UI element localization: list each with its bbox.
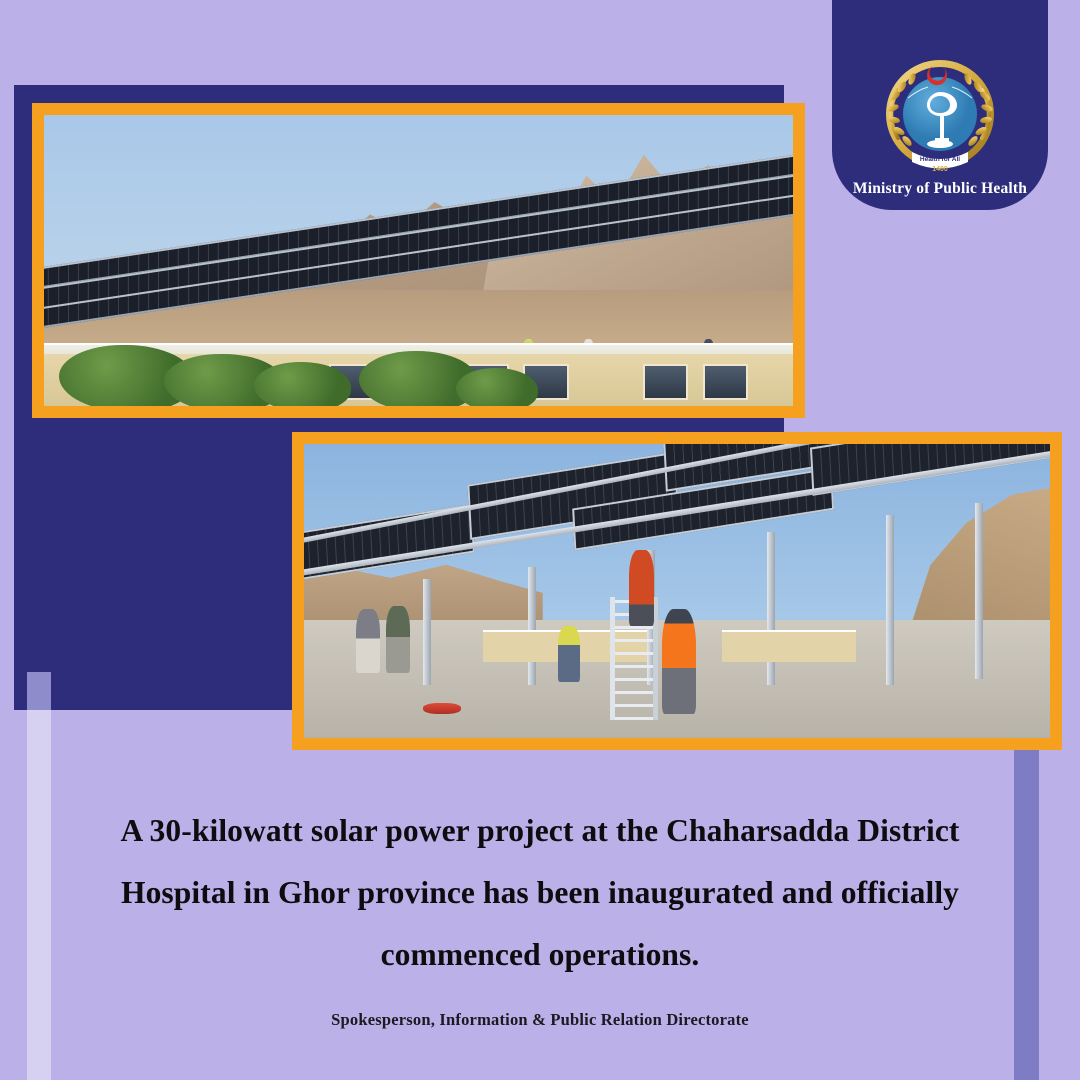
badge-caption: Ministry of Public Health — [853, 180, 1027, 198]
left-accent-stripe-shadow — [27, 672, 51, 710]
building-window — [703, 364, 748, 400]
svg-text:Health for All: Health for All — [920, 156, 960, 163]
worker-on-ladder-figure — [629, 550, 654, 626]
ministry-of-public-health-badge: Health for All 1400 Ministry of Public H… — [832, 0, 1048, 210]
source-caption: Spokesperson, Information & Public Relat… — [60, 1010, 1020, 1030]
worker-figure — [558, 626, 580, 682]
worker-figure — [386, 606, 410, 674]
tree — [254, 362, 351, 406]
background-building — [722, 630, 856, 661]
headline-text: A 30-kilowatt solar power project at the… — [60, 800, 1020, 986]
svg-text:1400: 1400 — [932, 166, 948, 173]
building-window — [643, 364, 688, 400]
worker-in-orange-vest-figure — [662, 609, 696, 715]
solar-panel — [304, 504, 475, 583]
tree — [456, 368, 538, 406]
support-post — [423, 579, 431, 685]
bowl-of-hygieia-emblem: Health for All 1400 — [878, 52, 1002, 176]
poster-canvas: Health for All 1400 Ministry of Public H… — [0, 0, 1080, 1080]
support-post — [886, 515, 894, 686]
left-accent-stripe — [27, 672, 51, 1080]
photo-2-scene — [304, 444, 1050, 738]
support-post — [767, 532, 775, 685]
solar-panels-on-hospital-roof-photo — [32, 103, 805, 418]
workers-installing-solar-array-photo — [292, 432, 1062, 750]
photo-1-scene — [44, 115, 793, 406]
debris-bag — [423, 703, 460, 715]
worker-figure — [356, 609, 380, 674]
support-post — [528, 567, 536, 685]
support-post — [975, 503, 983, 679]
